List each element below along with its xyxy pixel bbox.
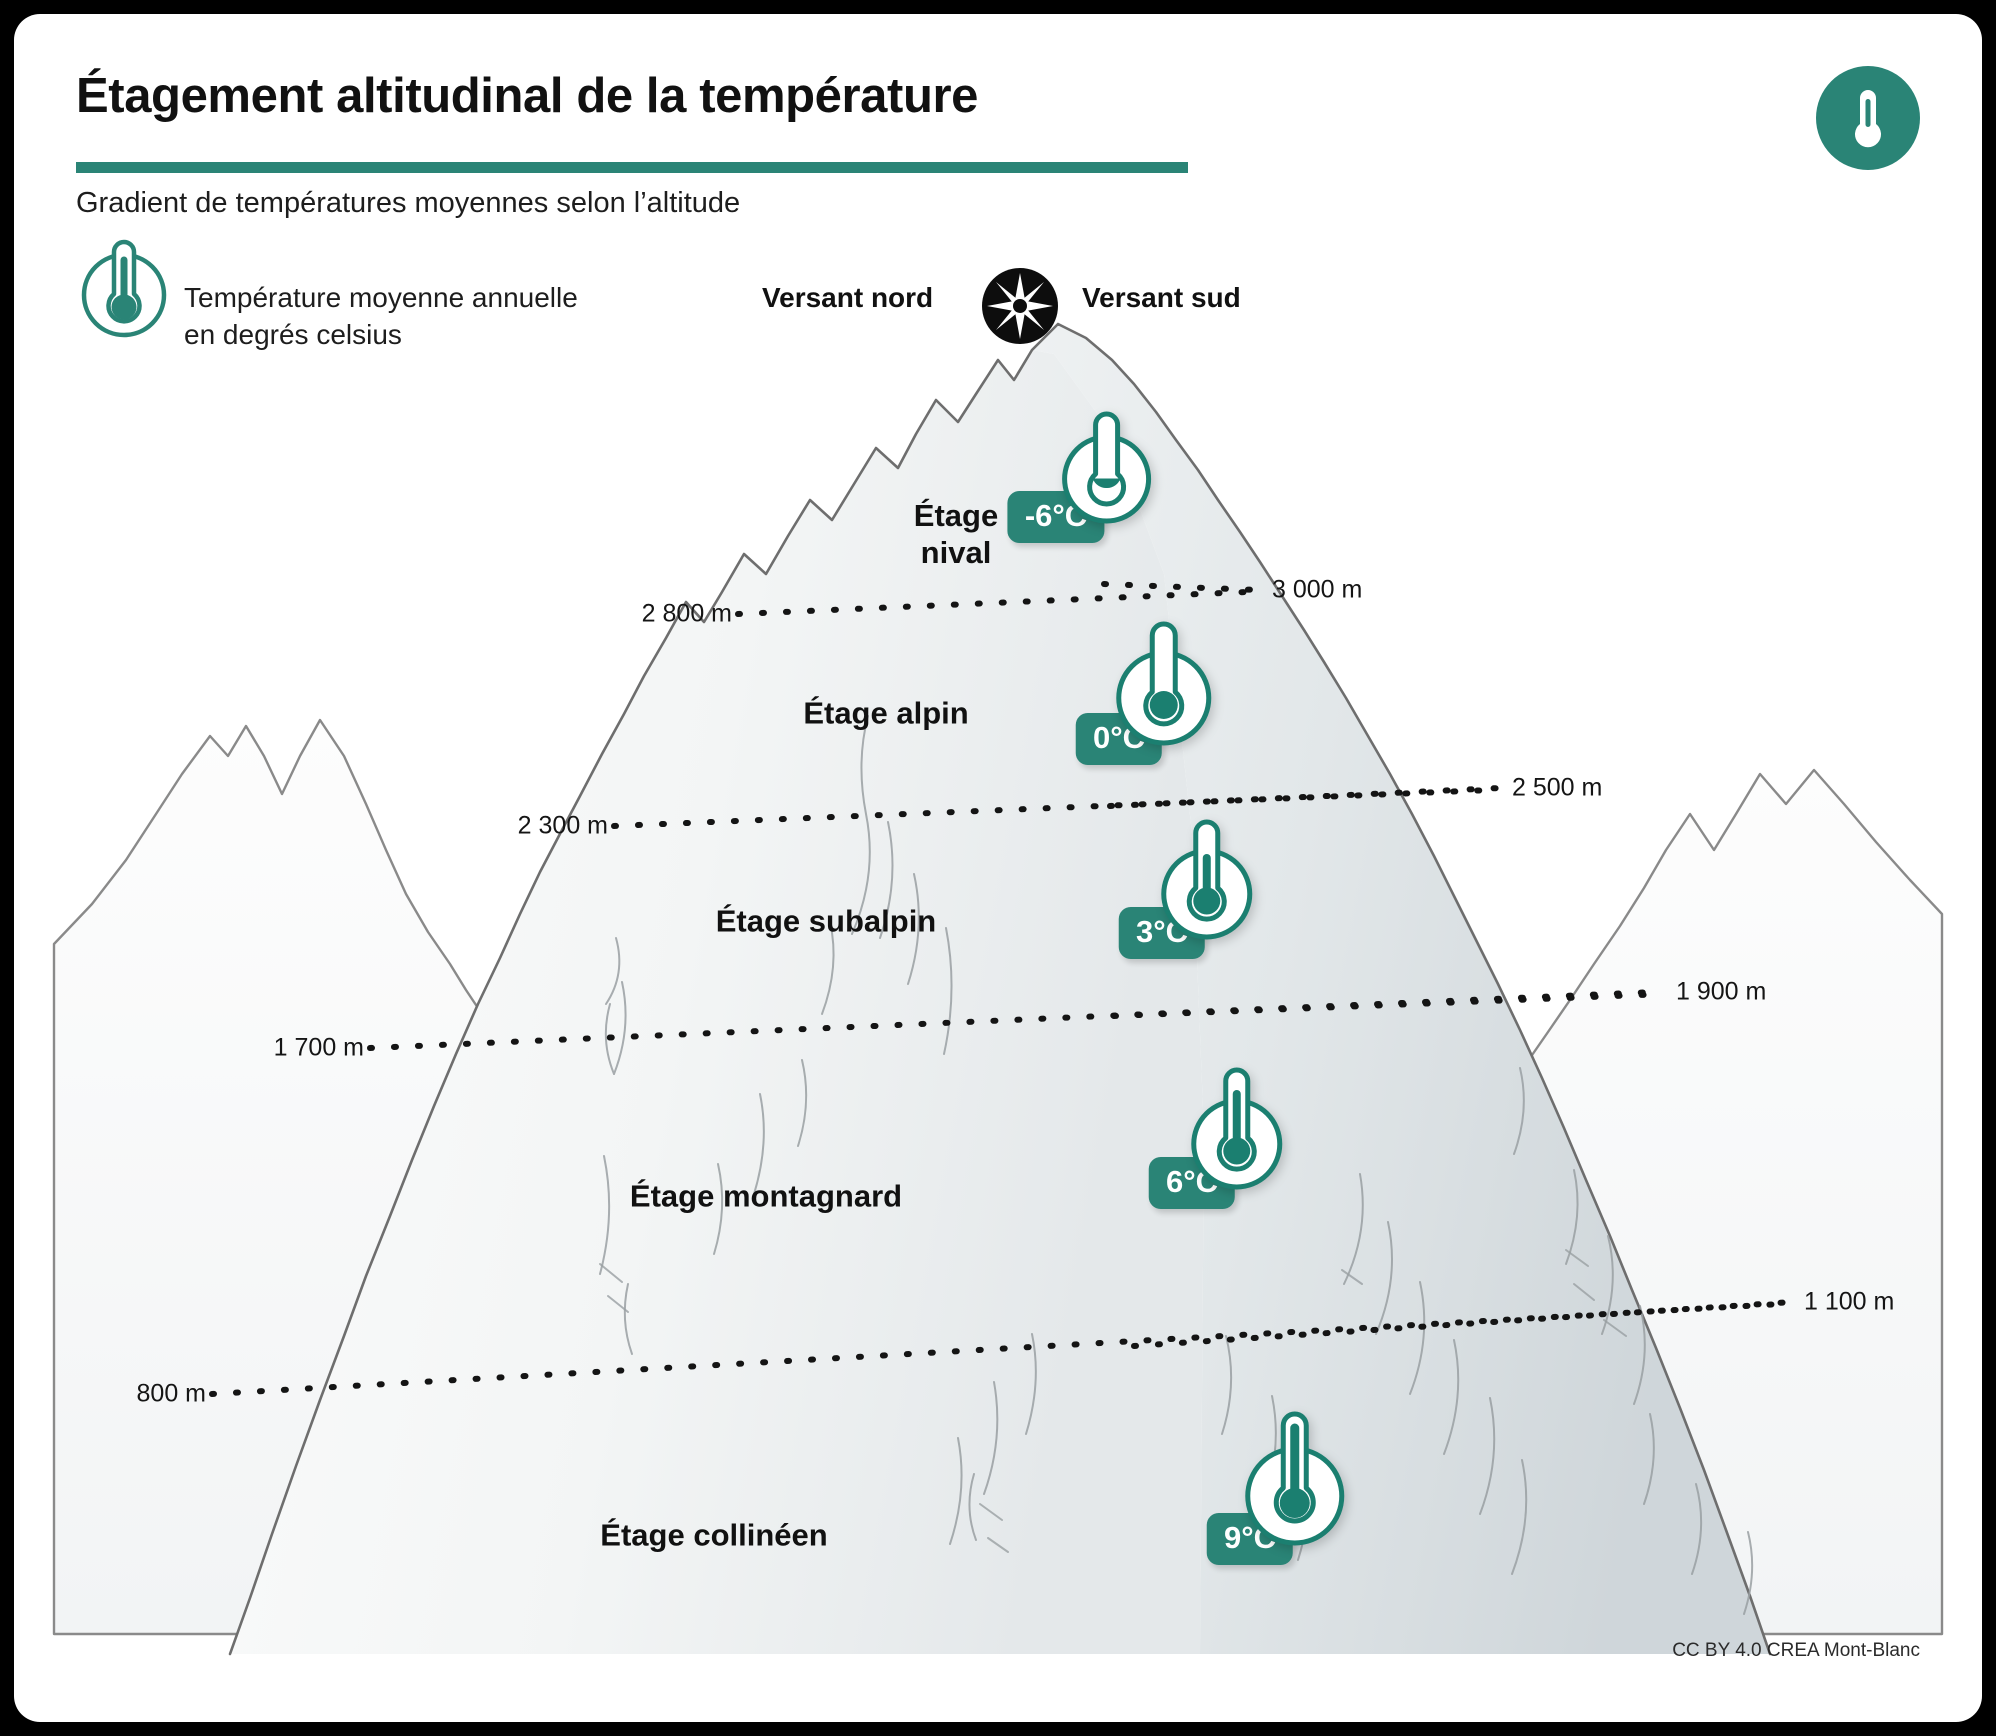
zone-label-alpin: Étage alpin	[803, 694, 968, 731]
altitude-label-north-1700: 1 700 m	[274, 1034, 364, 1063]
thermometer-icon	[1155, 812, 1259, 942]
legend-description: Température moyenne annuelle en degrés c…	[184, 279, 578, 353]
slope-south-label: Versant sud	[1082, 282, 1241, 314]
credit-text: CC BY 4.0 CREA Mont-Blanc	[1672, 1640, 1920, 1662]
thermometer-icon	[1238, 1404, 1352, 1548]
page-title: Étagement altitudinal de la température	[76, 68, 978, 124]
temperature-marker-montagnard[interactable]: 6°C	[1095, 1062, 1289, 1209]
zone-label-subalpin: Étage subalpin	[716, 902, 936, 939]
altitude-label-south-1100: 1 100 m	[1804, 1288, 1894, 1317]
slope-north-label: Versant nord	[762, 282, 933, 314]
temperature-marker-collineen[interactable]: 9°C	[1148, 1406, 1352, 1565]
infographic-card: Étagement altitudinal de la température …	[14, 14, 1982, 1722]
temperature-marker-alpin[interactable]: 0°C	[1019, 614, 1219, 765]
altitude-label-south-1900: 1 900 m	[1676, 978, 1766, 1007]
page-subtitle: Gradient de températures moyennes selon …	[76, 187, 740, 220]
zone-label-collineen: Étage collinéen	[600, 1516, 827, 1553]
legend-thermometer-icon	[76, 232, 172, 342]
altitude-label-south-2500: 2 500 m	[1512, 774, 1602, 803]
altitude-label-north-800: 800 m	[137, 1380, 206, 1409]
thermometer-icon	[1109, 612, 1219, 748]
temperature-marker-nival[interactable]: -6°C	[956, 404, 1157, 543]
zone-label-montagnard: Étage montagnard	[630, 1177, 902, 1214]
compass-rose-icon	[982, 268, 1058, 344]
legend-line-2: en degrés celsius	[184, 319, 402, 350]
thermometer-icon	[1185, 1060, 1289, 1192]
altitude-label-south-3000: 3 000 m	[1272, 576, 1362, 605]
thermometer-icon	[1056, 402, 1156, 526]
temperature-marker-subalpin[interactable]: 3°C	[1065, 814, 1259, 959]
brand-thermometer-badge	[1816, 66, 1920, 170]
altitude-label-north-2300: 2 300 m	[518, 812, 608, 841]
altitude-label-north-2800: 2 800 m	[642, 600, 732, 629]
thermometer-icon	[1846, 86, 1890, 150]
title-underline	[76, 162, 1188, 173]
legend-line-1: Température moyenne annuelle	[184, 282, 578, 313]
